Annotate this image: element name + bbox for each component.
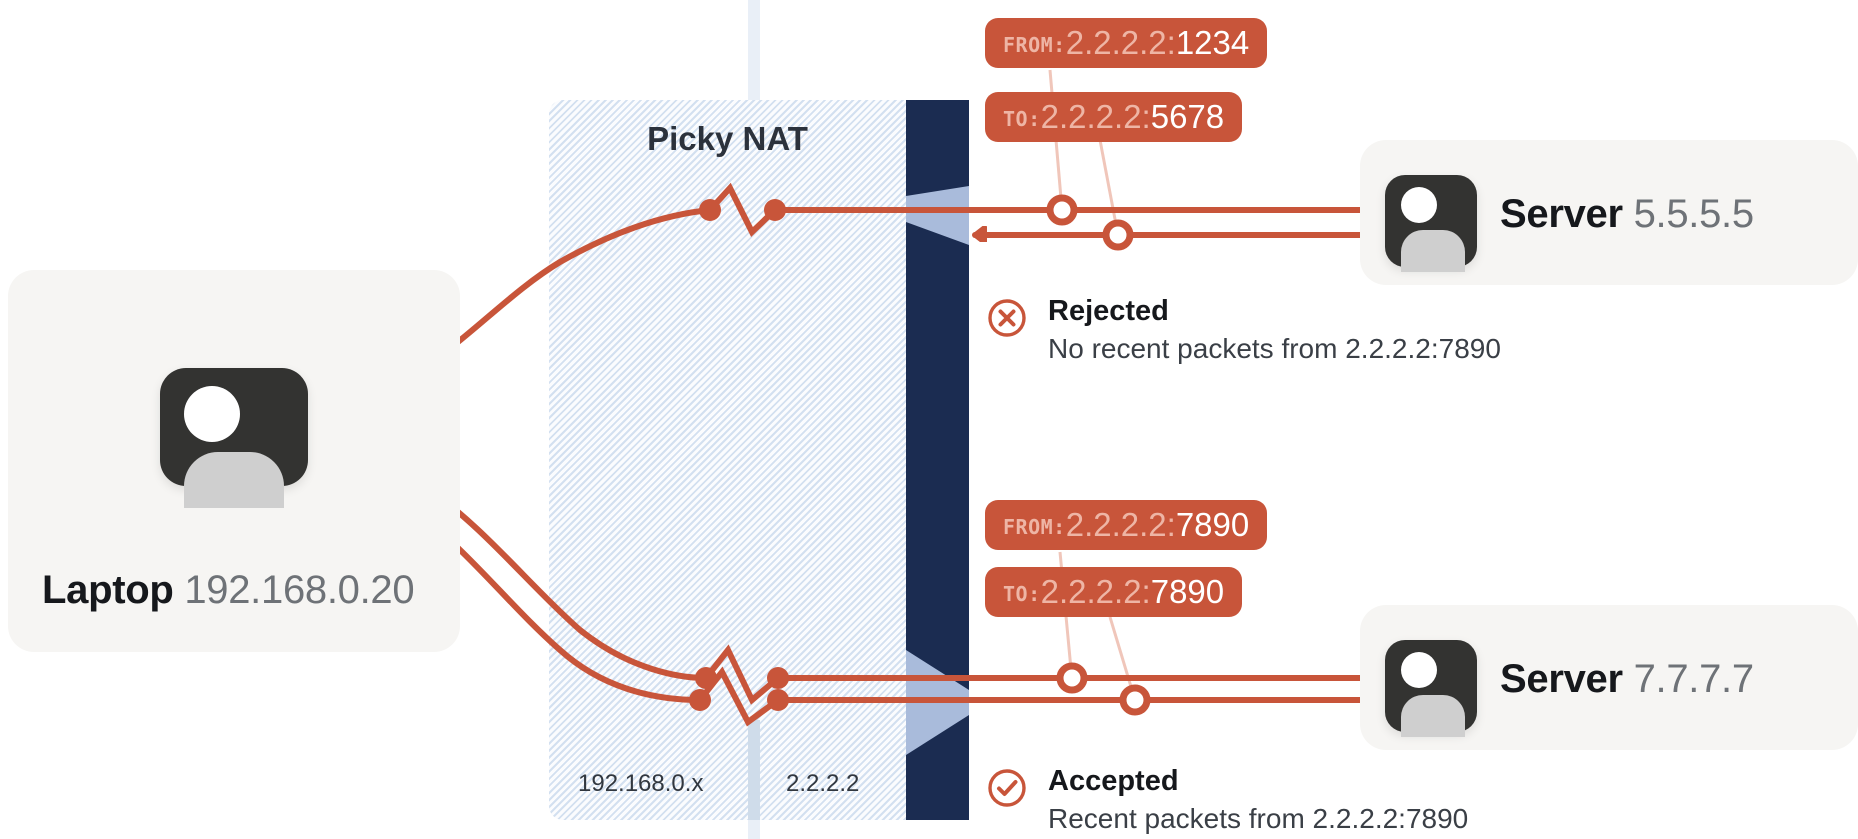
- avatar-body-icon: [1401, 230, 1465, 272]
- nat-title: Picky NAT: [549, 120, 906, 158]
- packet-ip: 2.2.2.2:: [1066, 506, 1176, 543]
- packet-port: 7890: [1176, 506, 1249, 543]
- x-circle-icon: [986, 297, 1028, 344]
- packet-ip: 2.2.2.2:: [1041, 98, 1151, 135]
- packet-key: TO:: [1003, 107, 1041, 131]
- avatar-body-icon: [184, 452, 284, 508]
- packet-badge-from-7890[interactable]: FROM:2.2.2.2:7890: [985, 500, 1267, 550]
- verdict-accepted-title: Accepted: [1048, 765, 1179, 798]
- packet-marker-bottom: [1060, 666, 1147, 712]
- nat-inside-zone-label: 192.168.0.x: [578, 770, 703, 798]
- server-5555-label: Server 5.5.5.5: [1500, 192, 1754, 237]
- server-5555-device-icon: [1385, 175, 1477, 267]
- laptop-label: Laptop 192.168.0.20: [42, 568, 414, 613]
- avatar-head-icon: [184, 386, 240, 442]
- server-5555-address: 5.5.5.5: [1634, 192, 1754, 236]
- packet-badge-to-5678[interactable]: TO:2.2.2.2:5678: [985, 92, 1242, 142]
- packet-marker-top: [1050, 198, 1130, 247]
- packet-key: FROM:: [1003, 33, 1066, 57]
- laptop-name: Laptop: [42, 568, 174, 612]
- diagram-canvas: Picky NAT 192.168.0.x 2.2.2.2 Laptop 192…: [0, 0, 1858, 839]
- nat-outside-zone-label: 2.2.2.2: [786, 770, 859, 798]
- server-5555-name: Server: [1500, 192, 1623, 236]
- laptop-device-icon: [160, 368, 308, 486]
- check-circle-icon: [986, 767, 1028, 814]
- nat-zone-divider-lower: [748, 720, 760, 820]
- laptop-address: 192.168.0.20: [184, 568, 414, 612]
- avatar-head-icon: [1401, 187, 1437, 223]
- packet-badge-to-7890[interactable]: TO:2.2.2.2:7890: [985, 567, 1242, 617]
- verdict-accepted-detail: Recent packets from 2.2.2.2:7890: [1048, 803, 1468, 835]
- packet-ip: 2.2.2.2:: [1066, 24, 1176, 61]
- server-7777-name: Server: [1500, 657, 1623, 701]
- packet-port: 7890: [1151, 573, 1224, 610]
- nat-firewall-bar: [906, 100, 969, 820]
- verdict-rejected-title: Rejected: [1048, 295, 1169, 328]
- avatar-head-icon: [1401, 652, 1437, 688]
- server-7777-device-icon: [1385, 640, 1477, 732]
- packet-port: 5678: [1151, 98, 1224, 135]
- packet-ip: 2.2.2.2:: [1041, 573, 1151, 610]
- server-7777-address: 7.7.7.7: [1634, 657, 1754, 701]
- server-7777-label: Server 7.7.7.7: [1500, 657, 1754, 702]
- verdict-rejected-detail: No recent packets from 2.2.2.2:7890: [1048, 333, 1501, 365]
- packet-key: FROM:: [1003, 515, 1066, 539]
- packet-port: 1234: [1176, 24, 1249, 61]
- packet-badge-from-1234[interactable]: FROM:2.2.2.2:1234: [985, 18, 1267, 68]
- packet-key: TO:: [1003, 582, 1041, 606]
- avatar-body-icon: [1401, 695, 1465, 737]
